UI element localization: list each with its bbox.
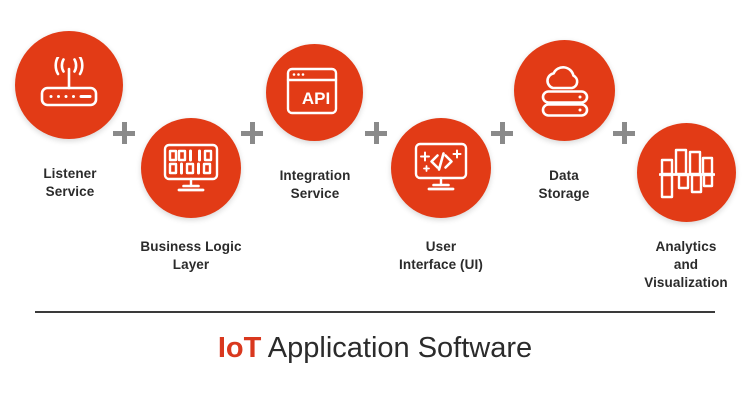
page-title-brand: IoT (218, 332, 262, 364)
integration-service-label: Integration Service (245, 167, 385, 203)
data-storage-circle[interactable] (514, 40, 615, 141)
plus-connector-4 (491, 122, 513, 144)
footer-divider (35, 311, 715, 313)
bar-chart-icon (659, 146, 715, 200)
analytics-and-visualization-label: Analytics and Visualization (612, 238, 750, 292)
listener-service-circle[interactable] (15, 31, 123, 139)
router-icon (38, 57, 100, 113)
integration-service-circle[interactable]: API (266, 44, 363, 141)
page-title-rest: Application Software (261, 332, 532, 364)
listener-service-label: Listener Service (0, 165, 140, 201)
cloud-database-icon (537, 63, 593, 119)
analytics-and-visualization-circle[interactable] (637, 123, 736, 222)
monitor-code-icon (412, 142, 470, 194)
business-logic-layer-label: Business Logic Layer (116, 238, 266, 274)
browser-api-icon: API (286, 67, 344, 119)
user-interface-ui-circle[interactable] (391, 118, 491, 218)
iot-application-software-diagram: Listener Service (0, 0, 750, 400)
plus-connector-3 (365, 122, 387, 144)
page-title: IoT Application Software (0, 332, 750, 365)
plus-connector-1 (113, 122, 135, 144)
plus-connector-5 (613, 122, 635, 144)
business-logic-layer-circle[interactable] (141, 118, 241, 218)
plus-connector-2 (241, 122, 263, 144)
data-storage-label: Data Storage (494, 167, 634, 203)
plus-icon (250, 122, 255, 144)
plus-icon (122, 122, 127, 144)
monitor-binary-icon (163, 143, 219, 193)
user-interface-ui-label: User Interface (UI) (366, 238, 516, 274)
svg-text:API: API (301, 89, 329, 108)
plus-icon (622, 122, 627, 144)
plus-icon (374, 122, 379, 144)
plus-icon (500, 122, 505, 144)
